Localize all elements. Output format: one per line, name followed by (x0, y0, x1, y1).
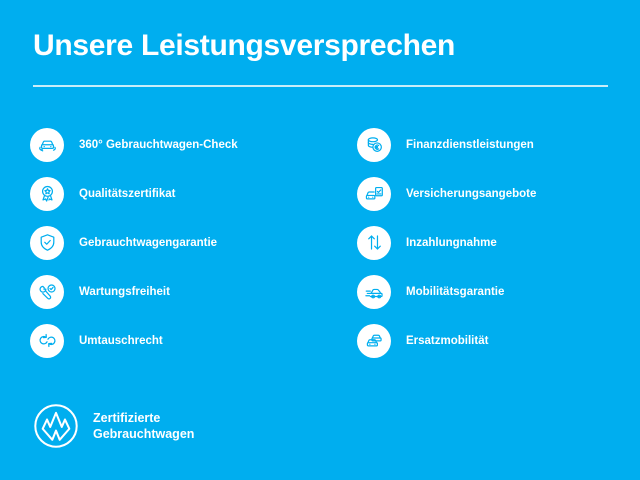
benefit-item: 360° Gebrauchtwagen-Check (30, 120, 330, 169)
benefit-item: Mobilitätsgarantie (357, 267, 637, 316)
brand-text: Zertifizierte Gebrauchtwagen (93, 410, 194, 442)
benefit-label: Wartungsfreiheit (79, 285, 170, 299)
benefit-label: Mobilitätsgarantie (406, 285, 504, 299)
brand-line-2: Gebrauchtwagen (93, 426, 194, 442)
header: Unsere Leistungsversprechen (33, 28, 608, 64)
benefit-item: Qualitätszertifikat (30, 169, 330, 218)
car-document-check-icon (357, 177, 391, 211)
exchange-arrows-icon (30, 324, 64, 358)
benefit-item: Finanzdienstleistungen (357, 120, 637, 169)
benefit-item: Wartungsfreiheit (30, 267, 330, 316)
benefit-label: Umtauschrecht (79, 334, 163, 348)
benefits-column-right: Finanzdienstleistungen Versicherungsange… (357, 120, 637, 365)
car-motion-icon (357, 275, 391, 309)
car-360-check-icon (30, 128, 64, 162)
shield-check-icon (30, 226, 64, 260)
benefit-label: Gebrauchtwagengarantie (79, 236, 217, 250)
wrench-check-icon (30, 275, 64, 309)
benefit-item: Umtauschrecht (30, 316, 330, 365)
benefit-label: 360° Gebrauchtwagen-Check (79, 138, 238, 152)
benefit-label: Finanzdienstleistungen (406, 138, 534, 152)
benefits-columns: 360° Gebrauchtwagen-Check Qualitätszerti… (0, 120, 640, 365)
two-cars-icon (357, 324, 391, 358)
page-title: Unsere Leistungsversprechen (33, 28, 608, 64)
benefit-item: Versicherungsangebote (357, 169, 637, 218)
title-divider (33, 85, 608, 87)
vw-logo (33, 403, 79, 449)
brand-lockup: Zertifizierte Gebrauchtwagen (33, 403, 194, 449)
benefit-label: Inzahlungnahme (406, 236, 497, 250)
benefit-item: Gebrauchtwagengarantie (30, 218, 330, 267)
brand-line-1: Zertifizierte (93, 410, 194, 426)
benefit-label: Ersatzmobilität (406, 334, 488, 348)
benefit-item: Inzahlungnahme (357, 218, 637, 267)
promo-graphic: Unsere Leistungsversprechen 360° (0, 0, 640, 480)
benefit-label: Versicherungsangebote (406, 187, 536, 201)
up-down-arrows-icon (357, 226, 391, 260)
benefit-item: Ersatzmobilität (357, 316, 637, 365)
benefits-column-left: 360° Gebrauchtwagen-Check Qualitätszerti… (30, 120, 330, 365)
euro-coins-icon (357, 128, 391, 162)
benefit-label: Qualitätszertifikat (79, 187, 176, 201)
award-rosette-icon (30, 177, 64, 211)
